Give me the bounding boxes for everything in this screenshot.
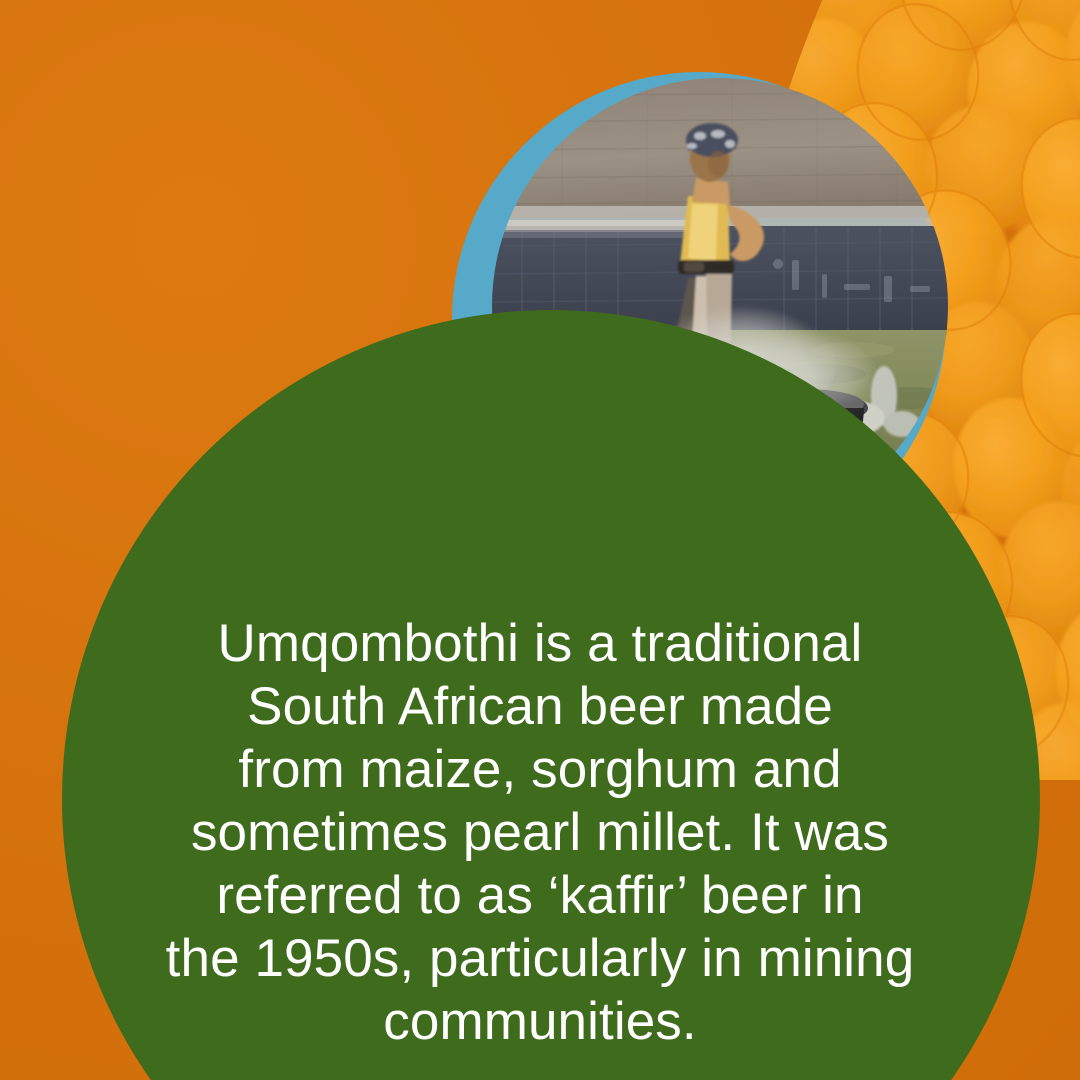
infographic-card: Umqombothi is a traditional South Africa… <box>0 0 1080 1080</box>
caption-text: Umqombothi is a traditional South Africa… <box>105 612 975 1053</box>
